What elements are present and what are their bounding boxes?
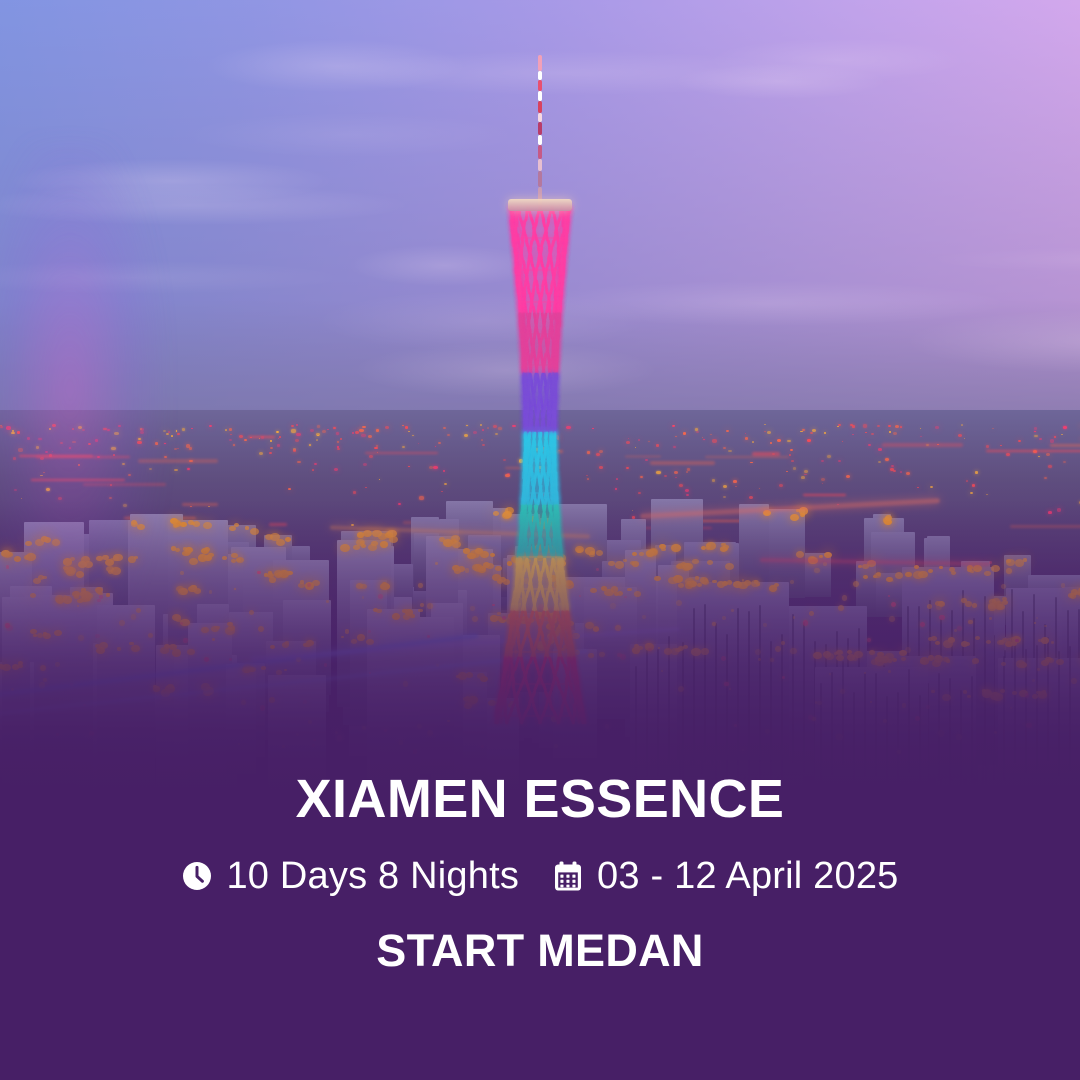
page-title: XIAMEN ESSENCE xyxy=(296,772,785,826)
trip-meta-row: 10 Days 8 Nights xyxy=(181,857,898,895)
departure-label: START MEDAN xyxy=(376,928,703,973)
dates-item: 03 - 12 April 2025 xyxy=(552,857,898,895)
duration-item: 10 Days 8 Nights xyxy=(181,857,519,895)
duration-label: 10 Days 8 Nights xyxy=(226,857,519,895)
dates-label: 03 - 12 April 2025 xyxy=(597,857,898,895)
info-panel: XIAMEN ESSENCE 10 Days 8 Nights xyxy=(0,760,1080,1080)
destination-photo xyxy=(0,0,1080,800)
calendar-icon xyxy=(552,860,584,892)
clock-icon xyxy=(181,860,213,892)
travel-promo-card: XIAMEN ESSENCE 10 Days 8 Nights xyxy=(0,0,1080,1080)
photo-to-panel-fade xyxy=(0,500,1080,800)
